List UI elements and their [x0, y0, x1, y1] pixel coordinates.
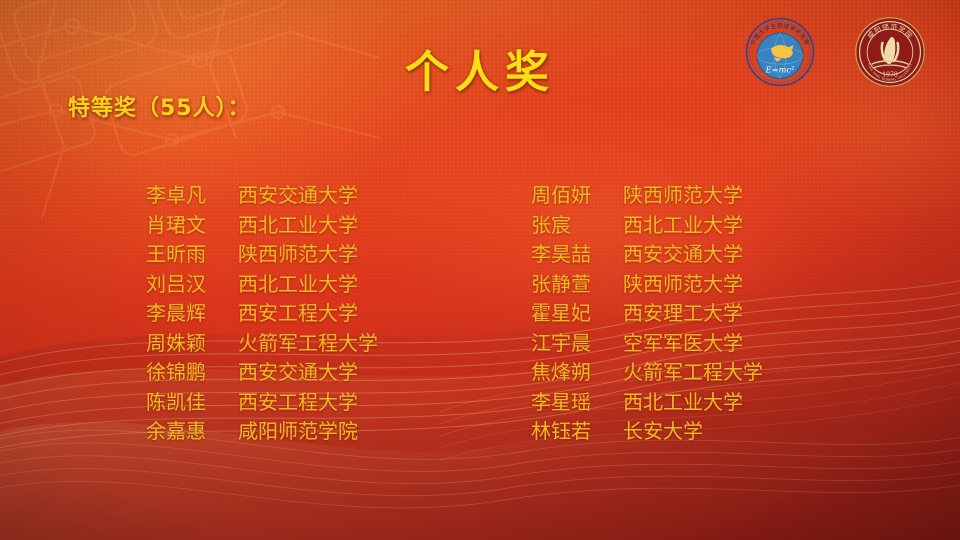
- winner-row: 李星瑶西北工业大学: [531, 388, 763, 418]
- winner-row: 张静萱陕西师范大学: [531, 270, 763, 300]
- winner-row: 周姝颖火箭军工程大学: [146, 329, 378, 359]
- winner-school: 西安交通大学: [238, 358, 358, 388]
- winner-school: 长安大学: [623, 417, 703, 447]
- winner-row: 王昕雨陕西师范大学: [146, 240, 378, 270]
- winner-row: 徐锦鹏西安交通大学: [146, 358, 378, 388]
- award-slide: 个人奖 特等奖（55人）： 李卓凡西安交通大学肖珺文西北工业大学王昕雨陕西师范大…: [0, 0, 960, 540]
- winner-name: 肖珺文: [146, 211, 238, 241]
- winner-row: 李昊喆西安交通大学: [531, 240, 763, 270]
- winner-row: 张宸西北工业大学: [531, 211, 763, 241]
- winner-name: 张宸: [531, 211, 623, 241]
- winner-name: 李昊喆: [531, 240, 623, 270]
- winner-school: 陕西师范大学: [623, 181, 743, 211]
- winner-row: 李晨辉西安工程大学: [146, 299, 378, 329]
- winner-school: 陕西师范大学: [238, 240, 358, 270]
- winner-school: 西北工业大学: [238, 270, 358, 300]
- winner-name: 李星瑶: [531, 388, 623, 418]
- winner-row: 霍星妃西安理工大学: [531, 299, 763, 329]
- winner-name: 余嘉惠: [146, 417, 238, 447]
- winner-row: 李卓凡西安交通大学: [146, 181, 378, 211]
- winner-row: 余嘉惠咸阳师范学院: [146, 417, 378, 447]
- winner-school: 火箭军工程大学: [623, 358, 763, 388]
- winner-school: 咸阳师范学院: [238, 417, 358, 447]
- winner-row: 刘吕汉西北工业大学: [146, 270, 378, 300]
- winner-school: 西安工程大学: [238, 299, 358, 329]
- winner-name: 霍星妃: [531, 299, 623, 329]
- winner-name: 李晨辉: [146, 299, 238, 329]
- winner-name: 刘吕汉: [146, 270, 238, 300]
- winner-school: 西安交通大学: [238, 181, 358, 211]
- winner-school: 西北工业大学: [623, 211, 743, 241]
- winner-school: 西安理工大学: [623, 299, 743, 329]
- winner-school: 西安交通大学: [623, 240, 743, 270]
- winner-name: 周姝颖: [146, 329, 238, 359]
- winner-name: 徐锦鹏: [146, 358, 238, 388]
- winner-school: 西安工程大学: [238, 388, 358, 418]
- winner-name: 陈凯佳: [146, 388, 238, 418]
- winner-row: 肖珺文西北工业大学: [146, 211, 378, 241]
- winner-school: 西北工业大学: [238, 211, 358, 241]
- winner-name: 江宇晨: [531, 329, 623, 359]
- winners-column-left: 李卓凡西安交通大学肖珺文西北工业大学王昕雨陕西师范大学刘吕汉西北工业大学李晨辉西…: [146, 181, 378, 447]
- winner-row: 周佰妍陕西师范大学: [531, 181, 763, 211]
- winner-school: 陕西师范大学: [623, 270, 743, 300]
- winner-row: 焦烽朔火箭军工程大学: [531, 358, 763, 388]
- winner-row: 江宇晨空军军医大学: [531, 329, 763, 359]
- winner-school: 西北工业大学: [623, 388, 743, 418]
- winner-name: 王昕雨: [146, 240, 238, 270]
- winner-name: 焦烽朔: [531, 358, 623, 388]
- winner-school: 火箭军工程大学: [238, 329, 378, 359]
- winner-row: 林钰若长安大学: [531, 417, 763, 447]
- winners-column-right: 周佰妍陕西师范大学张宸西北工业大学李昊喆西安交通大学张静萱陕西师范大学霍星妃西安…: [531, 181, 763, 447]
- award-category-subtitle: 特等奖（55人）：: [68, 90, 251, 122]
- winner-name: 周佰妍: [531, 181, 623, 211]
- winner-school: 空军军医大学: [623, 329, 743, 359]
- slide-content: 个人奖 特等奖（55人）： 李卓凡西安交通大学肖珺文西北工业大学王昕雨陕西师范大…: [0, 0, 960, 540]
- winner-name: 林钰若: [531, 417, 623, 447]
- winner-name: 张静萱: [531, 270, 623, 300]
- winner-row: 陈凯佳西安工程大学: [146, 388, 378, 418]
- winner-name: 李卓凡: [146, 181, 238, 211]
